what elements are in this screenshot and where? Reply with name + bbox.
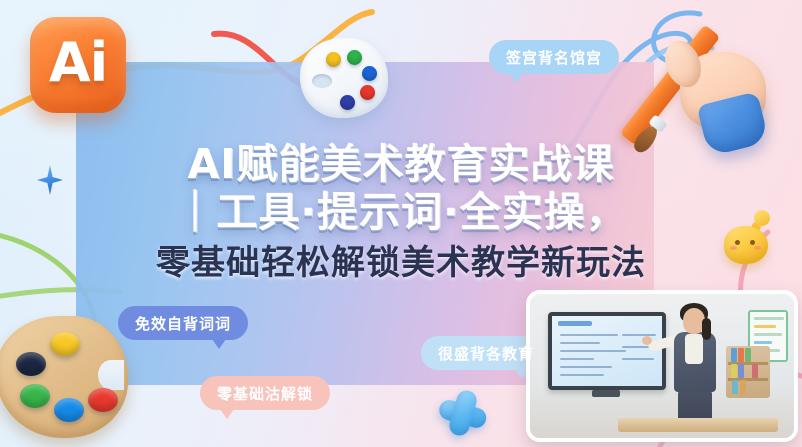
smartboard-graphic: [548, 312, 666, 390]
badge-bottom-left-label: 零基础沽解锁: [217, 383, 313, 404]
sparkle-star-icon: [37, 165, 63, 195]
badge-bottom-left[interactable]: 零基础沽解锁: [200, 376, 330, 410]
badge-top-right-label: 签宫背名馆宫: [506, 47, 602, 68]
badge-bottom-center-label: 很盛背各教育: [438, 343, 534, 364]
ai-app-icon-label: Ai: [49, 36, 107, 94]
yellow-mascot-icon: [724, 210, 778, 266]
blue-cross-icon: [431, 382, 495, 444]
promo-banner: Ai: [0, 0, 802, 447]
hand-holding-paintbrush-icon: [632, 0, 800, 164]
ai-app-icon: Ai: [30, 17, 126, 113]
student-desk-graphic: [618, 418, 778, 432]
artist-palette-white-icon: [300, 38, 388, 118]
artist-palette-wooden-icon: [0, 316, 128, 438]
classroom-photo: [526, 290, 798, 442]
badge-left-middle[interactable]: 免效自背词词: [118, 306, 248, 340]
badge-left-middle-label: 免效自背词词: [135, 313, 231, 334]
bookshelf-graphic: [726, 346, 770, 398]
badge-top-right[interactable]: 签宫背名馆宫: [489, 40, 619, 74]
